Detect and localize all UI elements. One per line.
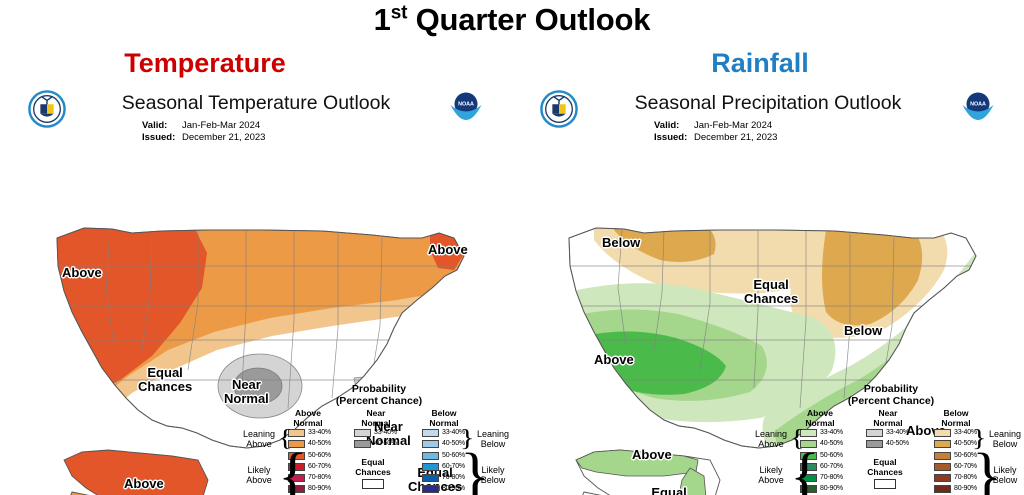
panel-heading-rainfall: Rainfall — [560, 48, 960, 79]
legend-brace-likely-above: { — [790, 445, 820, 495]
legend-side-likely-above: LikelyAbove — [748, 465, 794, 485]
legend-swatch-below-80-90: 80-90% — [934, 485, 977, 493]
swatch-color — [934, 463, 951, 471]
swatch-color — [934, 474, 951, 482]
legend-brace-likely-below: } — [972, 445, 1002, 495]
legend-precipitation: Probability (Percent Chance) AboveNormal… — [796, 383, 996, 495]
legend-side-leaning-above: LeaningAbove — [236, 429, 282, 449]
legend-title-line1: Probability — [352, 383, 406, 395]
swatch-color — [934, 440, 951, 448]
alaska-inset — [4, 450, 228, 495]
swatch-color — [422, 429, 439, 437]
outlook-slide: 1st Quarter Outlook Temperature Rainfall… — [0, 0, 1024, 495]
panel-precipitation: NOAA Seasonal Precipitation Outlook Vali… — [514, 88, 1022, 495]
legend-swatch-below-60-70: 60-70% — [934, 463, 977, 471]
page-title-superscript: st — [391, 3, 408, 24]
page-title: 1st Quarter Outlook — [0, 2, 1024, 38]
legend-title-line2: (Percent Chance) — [848, 395, 934, 407]
legend-swatch-below-70-80: 70-80% — [422, 474, 465, 482]
swatch-color — [934, 485, 951, 493]
legend-swatch-below-70-80: 70-80% — [934, 474, 977, 482]
legend-side-leaning-above: LeaningAbove — [748, 429, 794, 449]
panel-heading-temperature: Temperature — [5, 48, 405, 79]
swatch-color — [422, 485, 439, 493]
legend-swatch-below-33-40: 33-40% — [422, 429, 465, 437]
legend-swatch-near-33-40: 33-40% — [866, 429, 909, 437]
legend-equal-chances-swatch — [362, 479, 384, 489]
swatch-color — [422, 474, 439, 482]
legend-equal-chances-swatch — [874, 479, 896, 489]
swatch-color — [866, 429, 883, 437]
swatch-color — [422, 440, 439, 448]
legend-temperature: Probability (Percent Chance) AboveNormal… — [284, 383, 484, 495]
swatch-color — [934, 429, 951, 437]
swatch-color — [422, 463, 439, 471]
legend-swatch-below-33-40: 33-40% — [934, 429, 977, 437]
legend-col-head-near: NearNormal — [350, 409, 402, 428]
swatch-color — [934, 452, 951, 460]
legend-swatch-near-40-50: 40-50% — [354, 440, 397, 448]
panel-temperature: NOAA Seasonal Temperature Outlook Valid:… — [2, 88, 510, 495]
swatch-color — [866, 440, 883, 448]
alaska-inset — [576, 450, 740, 495]
legend-title-line1: Probability — [864, 383, 918, 395]
legend-swatch-below-50-60: 50-60% — [422, 452, 465, 460]
legend-swatch-above-33-40: 33-40% — [288, 429, 331, 437]
legend-swatch-below-80-90: 80-90% — [422, 485, 465, 493]
legend-equal-chances-label: Equal Chances — [862, 458, 908, 477]
legend-brace-likely-below: } — [460, 445, 490, 495]
legend-brace-likely-above: { — [278, 445, 308, 495]
legend-title-line2: (Percent Chance) — [336, 395, 422, 407]
legend-swatch-below-40-50: 40-50% — [934, 440, 977, 448]
legend-equal-chances-label: Equal Chances — [350, 458, 396, 477]
legend-swatch-near-33-40: 33-40% — [354, 429, 397, 437]
legend-swatch-near-40-50: 40-50% — [866, 440, 909, 448]
swatch-color — [422, 452, 439, 460]
legend-side-likely-above: LikelyAbove — [236, 465, 282, 485]
page-title-prefix: 1 — [374, 2, 391, 37]
legend-swatch-above-33-40: 33-40% — [800, 429, 843, 437]
legend-swatch-below-40-50: 40-50% — [422, 440, 465, 448]
legend-col-head-near: NearNormal — [862, 409, 914, 428]
swatch-color — [354, 429, 371, 437]
legend-swatch-below-50-60: 50-60% — [934, 452, 977, 460]
page-title-rest: Quarter Outlook — [407, 2, 650, 37]
swatch-color — [354, 440, 371, 448]
legend-swatch-below-60-70: 60-70% — [422, 463, 465, 471]
